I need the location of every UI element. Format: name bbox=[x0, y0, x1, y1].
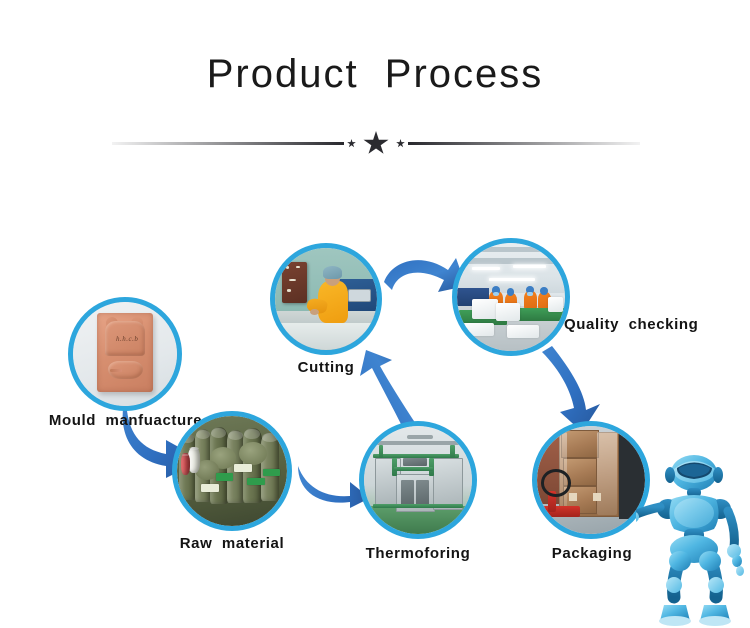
step-quality-checking-label: Quality checking bbox=[564, 316, 704, 333]
small-star-right-icon bbox=[396, 139, 405, 148]
step-cutting-photo bbox=[275, 248, 377, 350]
step-quality-checking[interactable]: Quality checking bbox=[452, 238, 570, 356]
blue-robot-mascot bbox=[636, 455, 750, 628]
step-raw-material-circle[interactable] bbox=[172, 411, 292, 531]
step-thermoforming-label: Thermoforing bbox=[337, 545, 499, 562]
divider-line-right bbox=[408, 142, 640, 145]
step-cutting-label: Cutting bbox=[256, 359, 396, 376]
step-quality-checking-circle[interactable] bbox=[452, 238, 570, 356]
step-mould-photo: h.h.c.b bbox=[73, 302, 177, 406]
page-title: Product Process bbox=[0, 52, 750, 97]
step-packaging[interactable]: Packaging bbox=[532, 421, 650, 539]
star-divider bbox=[112, 128, 640, 158]
step-raw-material[interactable]: Raw material bbox=[172, 411, 292, 531]
step-thermoforming-circle[interactable] bbox=[359, 421, 477, 539]
step-cutting-circle[interactable] bbox=[270, 243, 382, 355]
small-star-left-icon bbox=[347, 139, 356, 148]
step-mould-circle[interactable]: h.h.c.b bbox=[68, 297, 182, 411]
step-cutting[interactable]: Cutting bbox=[270, 243, 382, 355]
step-thermoforming[interactable]: Thermoforing bbox=[359, 421, 477, 539]
step-raw-material-label: Raw material bbox=[152, 535, 312, 552]
step-packaging-photo bbox=[537, 426, 645, 534]
divider-line-left bbox=[112, 142, 344, 145]
big-star-icon bbox=[363, 131, 389, 156]
step-quality-checking-photo bbox=[457, 243, 565, 351]
step-raw-material-photo bbox=[177, 416, 287, 526]
product-process-infographic: Product Process bbox=[0, 0, 750, 628]
step-thermoforming-photo bbox=[364, 426, 472, 534]
step-mould[interactable]: h.h.c.b Mould manfuacture bbox=[68, 297, 182, 411]
step-packaging-label: Packaging bbox=[532, 545, 652, 562]
step-packaging-circle[interactable] bbox=[532, 421, 650, 539]
